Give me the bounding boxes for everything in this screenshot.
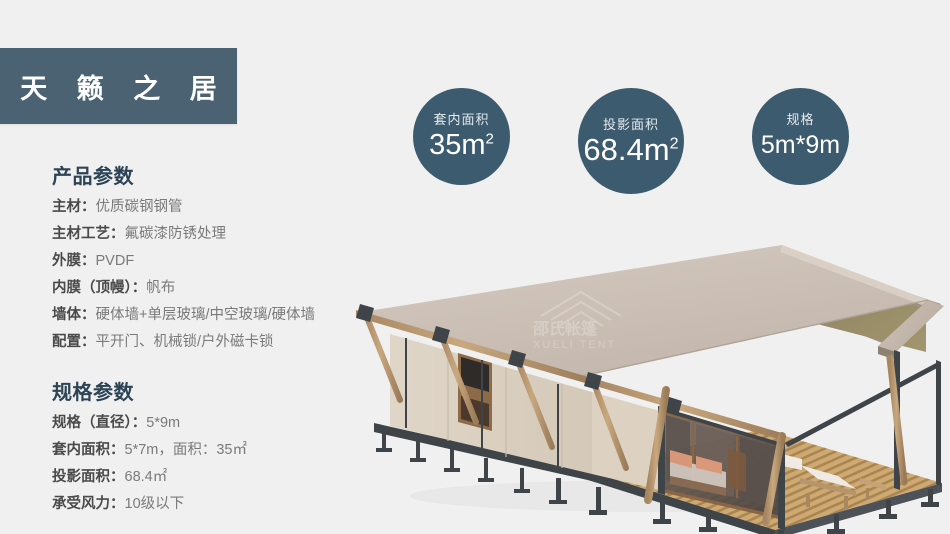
- spec-row: 外膜：PVDF: [52, 251, 360, 271]
- lounger-leg: [806, 493, 810, 507]
- badge-dimensions: 规格 5m*9m: [752, 88, 849, 185]
- foot: [549, 500, 567, 504]
- spec-row: 内膜（顶幔）：帆布: [52, 278, 360, 298]
- badge-interior-area: 套内面积 35m2: [413, 88, 510, 185]
- foot: [444, 468, 460, 472]
- spec-params-heading: 规格参数: [52, 376, 360, 405]
- leg: [416, 440, 420, 459]
- page-title: 天 籁 之 居: [9, 67, 228, 106]
- spec-value: 5*7m，面积：35㎡: [125, 442, 247, 458]
- spec-key: 内膜（顶幔）：: [52, 280, 146, 296]
- product-params-heading: 产品参数: [52, 160, 360, 189]
- spec-key: 墙体：: [52, 307, 96, 323]
- foot: [410, 458, 426, 462]
- badge-caption: 规格: [786, 112, 814, 128]
- leg: [596, 487, 601, 511]
- spec-key: 套内面积：: [52, 442, 125, 458]
- spec-value: 10级以下: [125, 496, 185, 512]
- foot: [699, 527, 717, 532]
- spec-row: 主材：优质碳钢钢管: [52, 197, 360, 217]
- spec-row: 主材工艺：氟碳漆防锈处理: [52, 224, 360, 244]
- poster-root: 天 籁 之 居 产品参数 主材：优质碳钢钢管 主材工艺：氟碳漆防锈处理 外膜：P…: [0, 0, 950, 534]
- spec-row: 配置：平开门、机械锁/户外磁卡锁: [52, 332, 360, 352]
- spec-row: 规格（直径）：5*9m: [52, 413, 360, 433]
- canopy-top-rail: [785, 362, 941, 447]
- foot: [653, 519, 671, 524]
- lounger-leg: [844, 496, 848, 509]
- tent-render-svg: [330, 200, 950, 534]
- badge-unit: m: [644, 132, 670, 167]
- title-banner: 天 籁 之 居: [0, 48, 237, 124]
- tent-render-illustration: [330, 200, 950, 534]
- badge-value: 35m2: [429, 129, 494, 161]
- badge-value: 5m*9m: [761, 129, 840, 161]
- spec-value: 硬体墙+单层玻璃/中空玻璃/硬体墙: [96, 307, 316, 323]
- spec-value: 5*9m: [146, 415, 180, 431]
- spec-row: 投影面积：68.4㎡: [52, 467, 360, 487]
- leg: [520, 468, 524, 490]
- foot: [478, 478, 494, 482]
- badge-unit-exponent: 2: [670, 134, 679, 152]
- spec-key: 投影面积：: [52, 469, 125, 485]
- foot: [376, 448, 392, 452]
- spec-key: 配置：: [52, 334, 96, 350]
- leg: [484, 458, 488, 479]
- spec-key: 规格（直径）：: [52, 415, 146, 431]
- leg: [928, 489, 933, 503]
- badge-caption: 投影面积: [603, 117, 659, 133]
- badge-number: 68.4: [583, 132, 643, 167]
- spec-key: 主材：: [52, 199, 96, 215]
- spec-row: 套内面积：5*7m，面积：35㎡: [52, 440, 360, 460]
- leg: [886, 500, 891, 515]
- spec-row: 墙体：硬体墙+单层玻璃/中空玻璃/硬体墙: [52, 305, 360, 325]
- spec-key: 主材工艺：: [52, 226, 125, 242]
- spec-value: 氟碳漆防锈处理: [125, 226, 227, 242]
- spec-value: PVDF: [96, 253, 135, 269]
- foot: [589, 510, 607, 515]
- spec-value: 平开门、机械锁/户外磁卡锁: [96, 334, 274, 350]
- spec-value: 帆布: [146, 280, 175, 296]
- badge-number: 35: [429, 129, 461, 161]
- leg: [556, 478, 561, 501]
- column: [936, 360, 941, 486]
- leg: [834, 514, 839, 530]
- bed-headboard: [728, 448, 746, 492]
- leg: [660, 496, 665, 520]
- spec-key: 外膜：: [52, 253, 96, 269]
- badge-caption: 套内面积: [433, 112, 489, 128]
- specification-panel: 产品参数 主材：优质碳钢钢管 主材工艺：氟碳漆防锈处理 外膜：PVDF 内膜（顶…: [0, 160, 360, 521]
- foot: [921, 502, 939, 507]
- spec-value: 优质碳钢钢管: [96, 199, 183, 215]
- badge-projected-area: 投影面积 68.4m2: [578, 88, 684, 194]
- leg: [450, 449, 454, 469]
- leg: [706, 510, 711, 528]
- badge-unit: m: [461, 129, 485, 161]
- spec-key: 承受风力：: [52, 496, 125, 512]
- leg: [382, 431, 386, 449]
- badge-number: 5m*9m: [761, 131, 840, 159]
- badge-unit-exponent: 2: [486, 130, 494, 147]
- leg: [778, 530, 784, 534]
- foot: [827, 529, 845, 534]
- spec-row: 承受风力：10级以下: [52, 494, 360, 514]
- badge-value: 68.4m2: [583, 134, 678, 166]
- foot: [514, 489, 530, 493]
- foot: [879, 514, 897, 519]
- side-table-leg: [866, 488, 869, 499]
- spec-value: 68.4㎡: [125, 469, 168, 485]
